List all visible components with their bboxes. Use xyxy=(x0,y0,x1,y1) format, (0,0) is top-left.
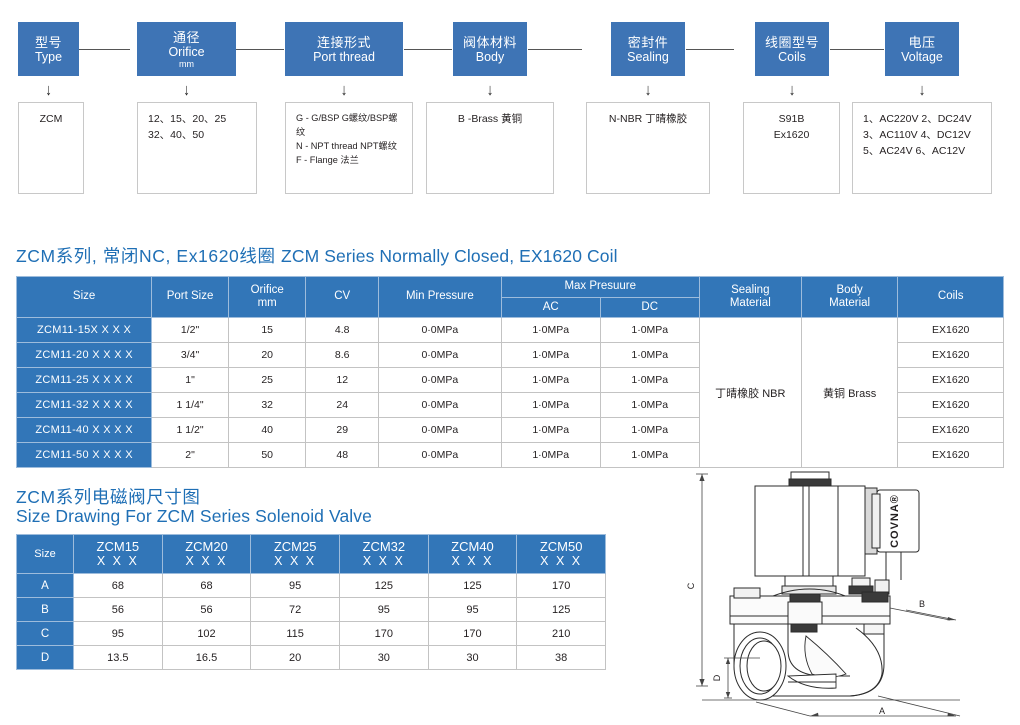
flow-header-cn: 型号 xyxy=(35,35,62,50)
dimension-label-d: D xyxy=(712,674,722,681)
cell-body-material: 黄铜 Brass xyxy=(801,318,898,468)
col-header-body-material: Body Material xyxy=(801,277,898,318)
flow-body-type: ZCM xyxy=(18,102,84,194)
table-row: D 13.5 16.5 20 30 30 38 xyxy=(17,646,606,670)
flow-header-en: Voltage xyxy=(901,50,943,64)
cell-port: 1 1/2" xyxy=(152,418,229,443)
dimension-label-a: A xyxy=(879,706,885,716)
dim-model-x: X X X xyxy=(76,554,160,569)
dimension-table-body: A 68 68 95 125 125 170 B 56 56 72 95 95 … xyxy=(17,574,606,670)
table-row: ZCM11-15X X X X 1/2" 15 4.8 0·0MPa 1·0MP… xyxy=(17,318,1004,343)
col-header-coils: Coils xyxy=(898,277,1004,318)
model-code-flow-diagram: 型号 Type ↓ ZCM 通径 Orifice mm ↓ 12、15、20、2… xyxy=(0,0,1020,218)
dim-cell: 30 xyxy=(339,646,428,670)
dim-cell: 68 xyxy=(162,574,251,598)
dim-cell: 16.5 xyxy=(162,646,251,670)
flow-body-text: ZCM xyxy=(40,111,63,127)
flow-header-en: Orifice xyxy=(168,45,204,59)
cell-dc: 1·0MPa xyxy=(600,393,699,418)
cell-cv: 12 xyxy=(306,368,379,393)
valve-inlet-port xyxy=(734,632,786,700)
cell-orifice: 15 xyxy=(228,318,306,343)
down-arrow-icon: ↓ xyxy=(611,76,685,102)
cell-cv: 8.6 xyxy=(306,343,379,368)
valve-top-stem xyxy=(789,472,831,486)
dim-col-header-zcm40: ZCM40 X X X xyxy=(428,535,517,574)
flow-column-body: 阀体材料 Body ↓ B -Brass 黄铜 xyxy=(453,22,527,194)
dim-model-x: X X X xyxy=(431,554,515,569)
dim-cell: 125 xyxy=(428,574,517,598)
cell-dc: 1·0MPa xyxy=(600,343,699,368)
col-header-dc: DC xyxy=(600,297,699,318)
dim-cell: 210 xyxy=(517,622,606,646)
flow-body-body: B -Brass 黄铜 xyxy=(426,102,554,194)
col-header-min-pressure: Min Pressure xyxy=(378,277,501,318)
cell-coil: EX1620 xyxy=(898,343,1004,368)
dim-col-header-zcm50: ZCM50 X X X xyxy=(517,535,606,574)
cell-cv: 24 xyxy=(306,393,379,418)
down-arrow-icon: ↓ xyxy=(453,76,527,102)
cell-coil: EX1620 xyxy=(898,368,1004,393)
dim-cell: 68 xyxy=(74,574,163,598)
dim-model-x: X X X xyxy=(342,554,426,569)
flow-header-type: 型号 Type xyxy=(18,22,79,76)
cell-min: 0·0MPa xyxy=(378,418,501,443)
dim-corner-label: Size xyxy=(17,535,74,574)
dimension-header-row: Size ZCM15 X X X ZCM20 X X X ZCM25 X X X… xyxy=(17,535,606,574)
col-header-orifice: Orifice mm xyxy=(228,277,306,318)
flow-body-text: 12、15、20、25 32、40、50 xyxy=(148,111,246,143)
dim-col-header-zcm25: ZCM25 X X X xyxy=(251,535,340,574)
flow-body-sealing: N-NBR 丁晴橡胶 xyxy=(586,102,710,194)
flow-header-en: Body xyxy=(476,50,505,64)
dimension-b xyxy=(890,608,956,620)
down-arrow-icon: ↓ xyxy=(285,76,403,102)
dim-model: ZCM25 xyxy=(274,539,317,554)
cell-coil: EX1620 xyxy=(898,393,1004,418)
dim-cell: 20 xyxy=(251,646,340,670)
dim-section-title-en: Size Drawing For ZCM Series Solenoid Val… xyxy=(16,506,372,527)
flow-column-sealing: 密封件 Sealing ↓ N-NBR 丁晴橡胶 xyxy=(611,22,685,194)
dim-model: ZCM20 xyxy=(185,539,228,554)
flow-body-voltage: 1、AC220V 2、DC24V 3、AC110V 4、DC12V 5、AC24… xyxy=(852,102,992,194)
dim-col-header-zcm32: ZCM32 X X X xyxy=(339,535,428,574)
dim-cell: 95 xyxy=(339,598,428,622)
dim-cell: 125 xyxy=(517,598,606,622)
flow-header-unit: mm xyxy=(179,59,194,69)
connector-line xyxy=(79,49,130,50)
flow-column-voltage: 电压 Voltage ↓ 1、AC220V 2、DC24V 3、AC110V 4… xyxy=(885,22,959,194)
cell-ac: 1·0MPa xyxy=(501,343,600,368)
dim-cell: 170 xyxy=(428,622,517,646)
cell-ac: 1·0MPa xyxy=(501,393,600,418)
flow-header-cn: 通径 xyxy=(173,30,200,45)
down-arrow-icon: ↓ xyxy=(885,76,959,102)
down-arrow-icon: ↓ xyxy=(18,76,79,102)
down-arrow-icon: ↓ xyxy=(755,76,829,102)
flow-column-coils: 线圈型号 Coils ↓ S91B Ex1620 xyxy=(755,22,829,194)
flow-header-cn: 线圈型号 xyxy=(765,35,819,50)
flow-header-cn: 连接形式 xyxy=(317,35,371,50)
dimension-c xyxy=(696,474,708,686)
dim-cell: 56 xyxy=(74,598,163,622)
flow-header-sealing: 密封件 Sealing xyxy=(611,22,685,76)
table-row: A 68 68 95 125 125 170 xyxy=(17,574,606,598)
dim-cell: 115 xyxy=(251,622,340,646)
cell-ac: 1·0MPa xyxy=(501,418,600,443)
cell-orifice: 32 xyxy=(228,393,306,418)
flow-body-text: N-NBR 丁晴橡胶 xyxy=(609,111,687,127)
connector-line xyxy=(236,49,284,50)
flow-header-cn: 电压 xyxy=(908,35,935,50)
dim-cell: 30 xyxy=(428,646,517,670)
flow-header-en: Type xyxy=(35,50,62,64)
dimension-a xyxy=(702,696,960,716)
cell-orifice: 40 xyxy=(228,418,306,443)
table-header-row: Size Port Size Orifice mm CV Min Pressur… xyxy=(17,277,1004,298)
cell-port: 3/4" xyxy=(152,343,229,368)
flow-body-orifice: 12、15、20、25 32、40、50 xyxy=(137,102,257,194)
flow-header-body: 阀体材料 Body xyxy=(453,22,527,76)
flow-body-text: G - G/BSP G螺纹/BSP螺纹 N - NPT thread NPT螺纹… xyxy=(296,111,402,167)
cell-min: 0·0MPa xyxy=(378,343,501,368)
table-row: B 56 56 72 95 95 125 xyxy=(17,598,606,622)
cell-size: ZCM11-50 X X X X xyxy=(17,443,152,468)
flow-header-orifice: 通径 Orifice mm xyxy=(137,22,236,76)
flow-body-port-thread: G - G/BSP G螺纹/BSP螺纹 N - NPT thread NPT螺纹… xyxy=(285,102,413,194)
orifice-label: Orifice xyxy=(231,284,304,298)
connector-line xyxy=(686,49,734,50)
dim-row-label: C xyxy=(17,622,74,646)
dim-cell: 72 xyxy=(251,598,340,622)
dim-cell: 170 xyxy=(339,622,428,646)
table-row: C 95 102 115 170 170 210 xyxy=(17,622,606,646)
dim-model-x: X X X xyxy=(165,554,249,569)
specification-table: Size Port Size Orifice mm CV Min Pressur… xyxy=(16,276,1004,468)
connector-line xyxy=(404,49,452,50)
dim-row-label: D xyxy=(17,646,74,670)
down-arrow-icon: ↓ xyxy=(137,76,236,102)
dim-cell: 38 xyxy=(517,646,606,670)
cell-coil: EX1620 xyxy=(898,443,1004,468)
dim-model: ZCM15 xyxy=(97,539,140,554)
flow-header-en: Sealing xyxy=(627,50,669,64)
cell-size: ZCM11-40 X X X X xyxy=(17,418,152,443)
cell-dc: 1·0MPa xyxy=(600,368,699,393)
spec-title-cn: ZCM系列, 常闭NC, Ex1620线圈 xyxy=(16,246,281,266)
spec-title-en: ZCM Series Normally Closed, EX1620 Coil xyxy=(281,246,618,266)
dim-col-header-zcm20: ZCM20 X X X xyxy=(162,535,251,574)
dimension-label-c: C xyxy=(686,582,696,589)
cell-min: 0·0MPa xyxy=(378,443,501,468)
connector-line xyxy=(830,49,884,50)
dim-cell: 125 xyxy=(339,574,428,598)
dim-cell: 95 xyxy=(428,598,517,622)
cell-size: ZCM11-32 X X X X xyxy=(17,393,152,418)
cell-min: 0·0MPa xyxy=(378,318,501,343)
flow-column-port-thread: 连接形式 Port thread ↓ G - G/BSP G螺纹/BSP螺纹 N… xyxy=(285,22,403,194)
flow-header-cn: 密封件 xyxy=(628,35,669,50)
cell-size: ZCM11-20 X X X X xyxy=(17,343,152,368)
col-header-size: Size xyxy=(17,277,152,318)
cell-orifice: 25 xyxy=(228,368,306,393)
solenoid-coil-housing xyxy=(755,486,877,576)
dim-row-label: B xyxy=(17,598,74,622)
cell-dc: 1·0MPa xyxy=(600,318,699,343)
col-header-sealing-material: Sealing Material xyxy=(699,277,801,318)
col-header-cv: CV xyxy=(306,277,379,318)
dim-cell: 95 xyxy=(251,574,340,598)
spec-section-title: ZCM系列, 常闭NC, Ex1620线圈 ZCM Series Normall… xyxy=(16,243,618,268)
cell-dc: 1·0MPa xyxy=(600,418,699,443)
dim-cell: 95 xyxy=(74,622,163,646)
flow-header-port-thread: 连接形式 Port thread xyxy=(285,22,403,76)
cell-min: 0·0MPa xyxy=(378,393,501,418)
connector-line xyxy=(528,49,582,50)
cell-cv: 29 xyxy=(306,418,379,443)
dimension-label-b: B xyxy=(919,599,925,609)
specification-table-body: ZCM11-15X X X X 1/2" 15 4.8 0·0MPa 1·0MP… xyxy=(17,318,1004,468)
col-header-max-pressure: Max Presuure xyxy=(501,277,699,298)
cell-ac: 1·0MPa xyxy=(501,368,600,393)
col-header-ac: AC xyxy=(501,297,600,318)
flow-body-text: B -Brass 黄铜 xyxy=(458,111,522,127)
flow-header-en: Coils xyxy=(778,50,806,64)
cell-cv: 4.8 xyxy=(306,318,379,343)
dimension-table: Size ZCM15 X X X ZCM20 X X X ZCM25 X X X… xyxy=(16,534,606,670)
cell-coil: EX1620 xyxy=(898,418,1004,443)
dim-cell: 170 xyxy=(517,574,606,598)
dim-cell: 56 xyxy=(162,598,251,622)
cell-dc: 1·0MPa xyxy=(600,443,699,468)
dim-model: ZCM40 xyxy=(451,539,494,554)
flow-header-en: Port thread xyxy=(313,50,375,64)
cell-cv: 48 xyxy=(306,443,379,468)
dim-model-x: X X X xyxy=(253,554,337,569)
cell-coil: EX1620 xyxy=(898,318,1004,343)
cell-ac: 1·0MPa xyxy=(501,318,600,343)
cell-orifice: 20 xyxy=(228,343,306,368)
cell-port: 1/2" xyxy=(152,318,229,343)
cell-size: ZCM11-15X X X X xyxy=(17,318,152,343)
dim-model-x: X X X xyxy=(519,554,603,569)
cell-min: 0·0MPa xyxy=(378,368,501,393)
dim-cell: 102 xyxy=(162,622,251,646)
flow-header-coils: 线圈型号 Coils xyxy=(755,22,829,76)
dim-title-en-text: Size Drawing For ZCM Series Solenoid Val… xyxy=(16,506,372,526)
cell-port: 1 1/4" xyxy=(152,393,229,418)
cell-port: 2" xyxy=(152,443,229,468)
dim-model: ZCM50 xyxy=(540,539,583,554)
cell-size: ZCM11-25 X X X X xyxy=(17,368,152,393)
cell-ac: 1·0MPa xyxy=(501,443,600,468)
dim-model: ZCM32 xyxy=(363,539,406,554)
flow-column-type: 型号 Type ↓ ZCM xyxy=(18,22,79,194)
cell-orifice: 50 xyxy=(228,443,306,468)
orifice-unit: mm xyxy=(231,297,304,311)
solenoid-valve-dimension-drawing: C COVNA® xyxy=(660,468,1010,720)
flow-body-text: 1、AC220V 2、DC24V 3、AC110V 4、DC12V 5、AC24… xyxy=(863,111,981,159)
flow-body-text: S91B Ex1620 xyxy=(774,111,810,143)
cell-port: 1" xyxy=(152,368,229,393)
dim-cell: 13.5 xyxy=(74,646,163,670)
cell-sealing-material: 丁晴橡胶 NBR xyxy=(699,318,801,468)
dim-title-cn-text: ZCM系列电磁阀尺寸图 xyxy=(16,487,201,507)
flow-column-orifice: 通径 Orifice mm ↓ 12、15、20、25 32、40、50 xyxy=(137,22,236,194)
dim-col-header-zcm15: ZCM15 X X X xyxy=(74,535,163,574)
dim-row-label: A xyxy=(17,574,74,598)
flow-body-coils: S91B Ex1620 xyxy=(743,102,840,194)
brand-label-covna: COVNA® xyxy=(889,494,901,548)
flow-header-voltage: 电压 Voltage xyxy=(885,22,959,76)
col-header-port-size: Port Size xyxy=(152,277,229,318)
flow-header-cn: 阀体材料 xyxy=(463,35,517,50)
